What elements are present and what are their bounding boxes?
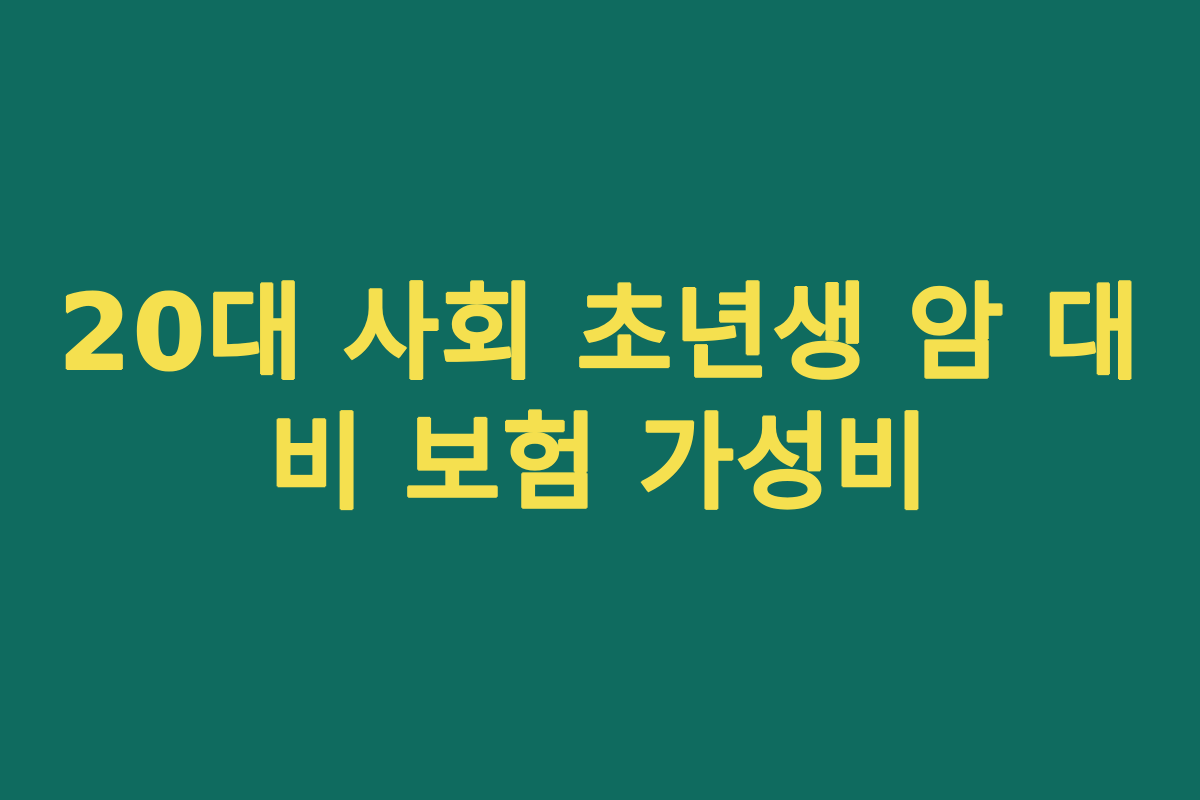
banner-canvas: 20대 사회 초년생 암 대 비 보험 가성비: [0, 0, 1200, 800]
headline-line-2: 비 보험 가성비: [269, 398, 932, 528]
headline-line-1: 20대 사회 초년생 암 대: [59, 268, 1142, 398]
headline-block: 20대 사회 초년생 암 대 비 보험 가성비: [80, 268, 1120, 528]
